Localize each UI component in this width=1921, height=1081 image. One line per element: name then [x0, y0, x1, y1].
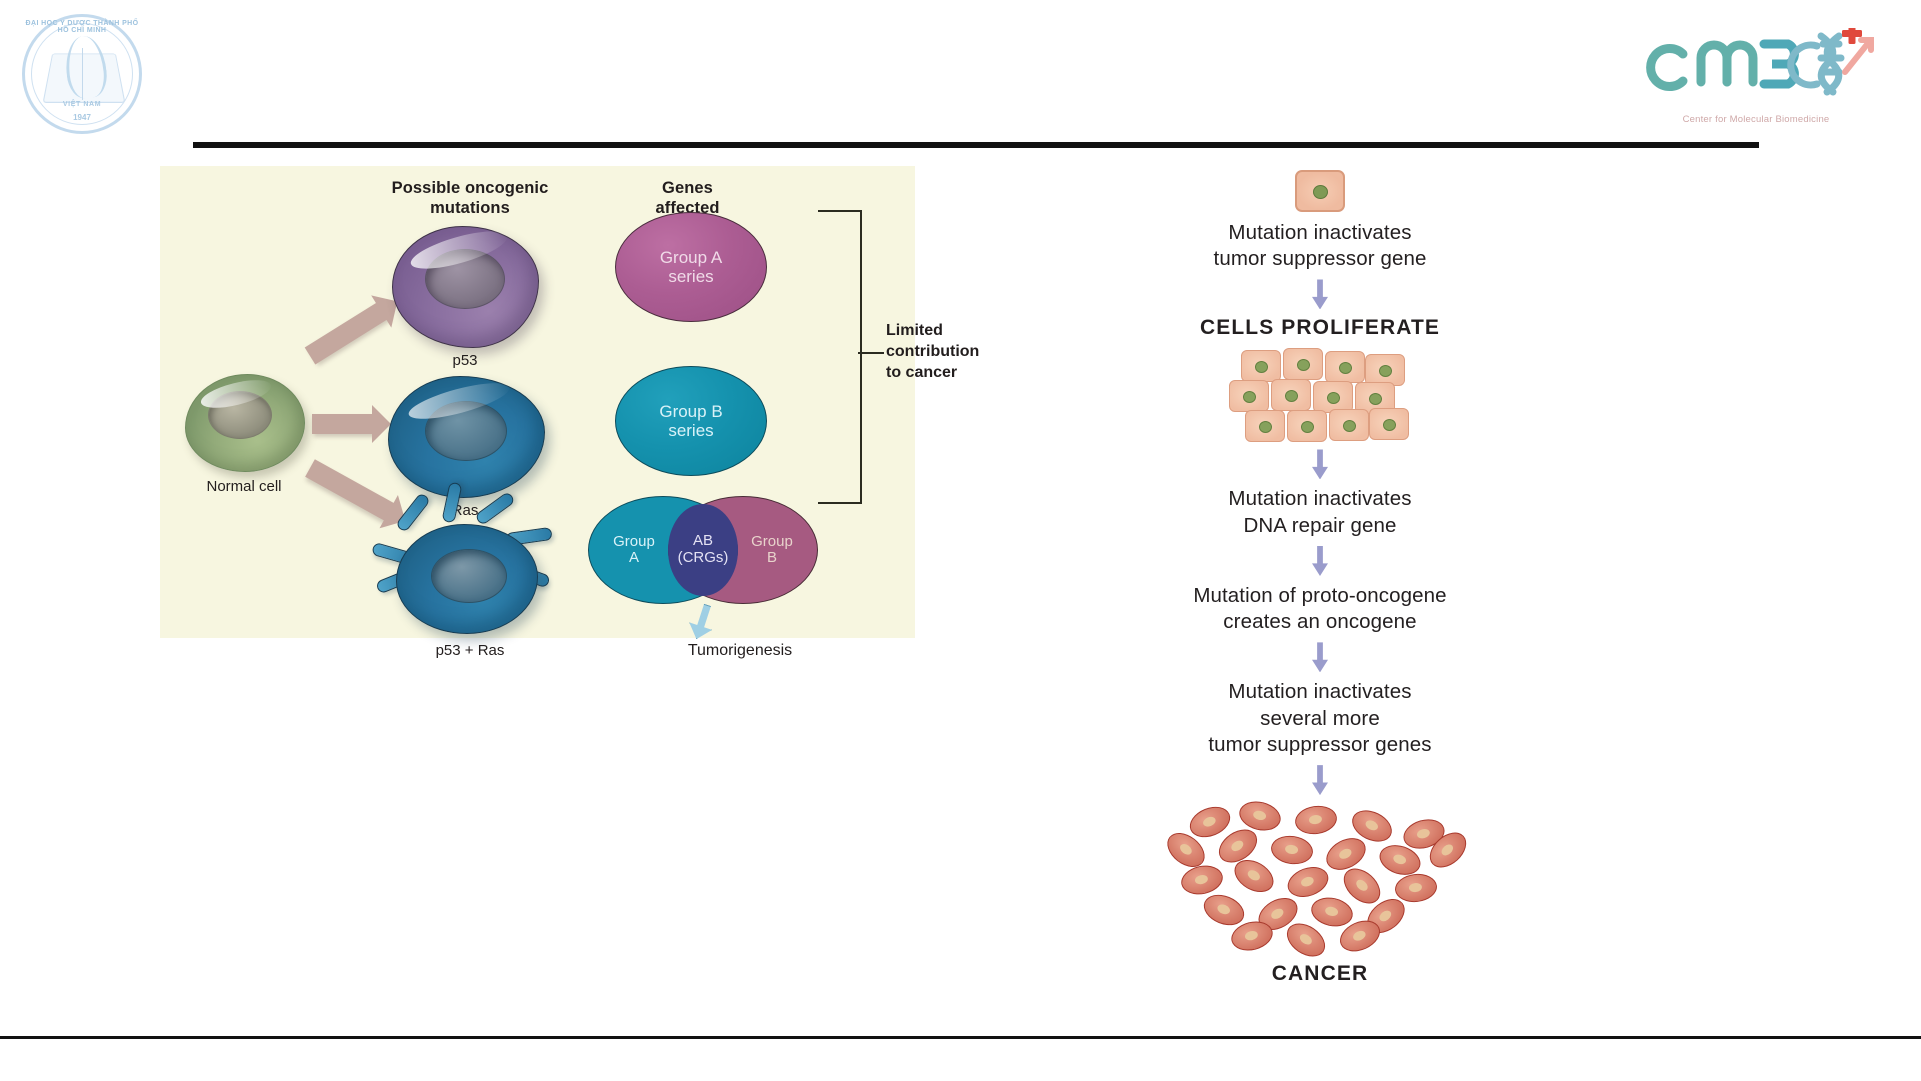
label-limited-contribution: Limited contribution to cancer [886, 321, 1004, 383]
flow-arrow-down-icon [1312, 279, 1328, 309]
header-divider-rule [193, 142, 1759, 148]
tumor-cell-mass-icon [1155, 802, 1485, 952]
p53-ras-mutant-cell-illustration [370, 496, 555, 636]
step-text-dna-repair: Mutation inactivates DNA repair gene [1000, 486, 1640, 538]
label-p53: p53 [400, 352, 530, 369]
step-text-proto-oncogene: Mutation of proto-oncogene creates an on… [1000, 583, 1640, 635]
pseudopod [395, 492, 431, 533]
cell-body [396, 524, 538, 634]
flow-arrow-down-icon [1312, 546, 1328, 576]
gene-groups-bracket [818, 210, 862, 504]
label-p53-ras: p53 + Ras [390, 642, 550, 659]
footer-divider-rule [0, 1036, 1921, 1039]
p53-mutant-cell-illustration [392, 226, 539, 348]
step-text-several-more: Mutation inactivates several more tumor … [1000, 679, 1640, 758]
column-header-mutations: Possible oncogenic mutations [365, 178, 575, 218]
single-mutated-cell-icon [1295, 170, 1345, 212]
seal-top-text: ĐẠI HỌC Y DƯỢC THÀNH PHỐ HỒ CHÍ MINH [22, 20, 142, 34]
oncogenic-mutations-figure: Possible oncogenic mutations Genes affec… [160, 166, 915, 638]
flow-arrow-down-icon [1312, 449, 1328, 479]
venn-intersection-ab-crgs: AB (CRGs) [668, 504, 738, 596]
venn-diagram: Group A Group B AB (CRGs) [588, 496, 818, 604]
step-text-tumor-suppressor: Mutation inactivates tumor suppressor ge… [1000, 220, 1640, 272]
group-b-ellipse: Group B series [615, 366, 767, 476]
university-seal-logo: ĐẠI HỌC Y DƯỢC THÀNH PHỐ HỒ CHÍ MINH VIỆ… [22, 14, 142, 134]
cancer-progression-flowchart: Mutation inactivates tumor suppressor ge… [1000, 170, 1640, 1030]
proliferating-cell-cluster-icon [1225, 346, 1415, 442]
nucleus-icon [431, 549, 507, 603]
arrow-to-ras [312, 414, 374, 434]
flow-arrow-down-icon [1312, 765, 1328, 795]
ras-mutant-cell-illustration [388, 376, 545, 498]
label-normal-cell: Normal cell [168, 478, 320, 495]
seal-country-text: VIỆT NAM [22, 101, 142, 108]
pseudopod [474, 491, 516, 526]
normal-cell-illustration [185, 374, 305, 472]
cmb-wordmark-icon [1631, 28, 1881, 100]
tumorigenesis-arrow-icon [685, 601, 719, 643]
step-text-cells-proliferate: CELLS PROLIFERATE [1000, 316, 1640, 340]
group-a-ellipse: Group A series [615, 212, 767, 322]
label-tumorigenesis: Tumorigenesis [620, 642, 860, 660]
step-text-cancer: CANCER [1000, 962, 1640, 986]
arrow-to-p53 [305, 302, 389, 365]
cmb-logo: Center for Molecular Biomedicine [1631, 22, 1881, 127]
cmb-logo-caption: Center for Molecular Biomedicine [1631, 114, 1881, 125]
flow-arrow-down-icon [1312, 642, 1328, 672]
bracket-tick [858, 352, 884, 354]
seal-year-text: 1947 [22, 113, 142, 122]
